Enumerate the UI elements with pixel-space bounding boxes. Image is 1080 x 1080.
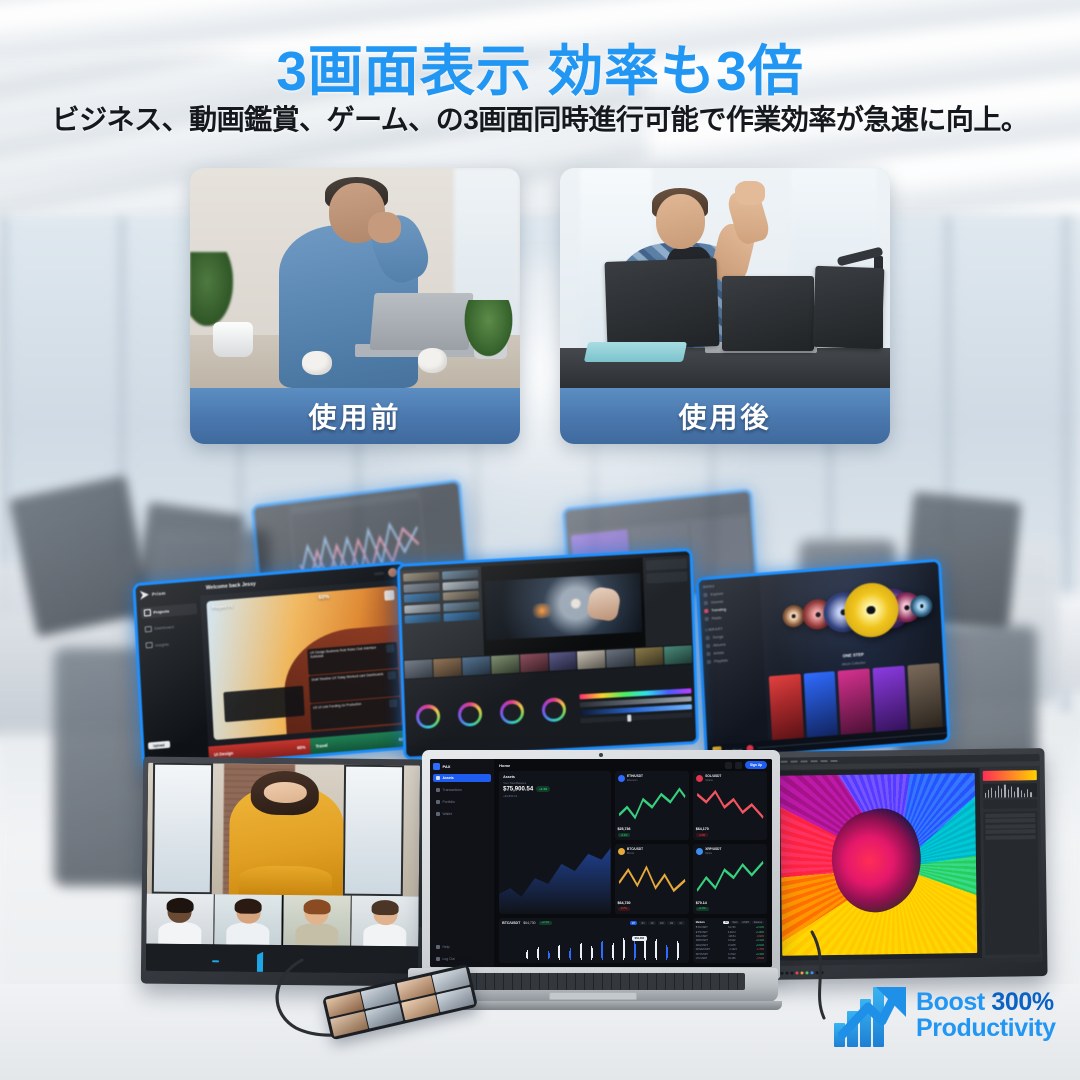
tab-1y[interactable]: 1Y	[677, 921, 685, 926]
signup-button[interactable]: Sign Up	[745, 761, 767, 768]
nav-label: Insights	[155, 641, 169, 647]
trackpad[interactable]	[549, 992, 638, 1000]
coin-icon	[618, 848, 625, 855]
music-nav-label: Songs	[713, 635, 724, 640]
row-pair: ADA/USDT	[696, 944, 708, 947]
row-change: -1.76%	[756, 948, 764, 951]
trading-nav-portfolio[interactable]: Portfolio	[433, 798, 491, 807]
before-card: 使用前	[190, 168, 520, 444]
pax-logo-icon	[433, 763, 440, 770]
nav-label: Wallet	[443, 812, 452, 816]
row-change: -0.92%	[756, 935, 764, 938]
participant-tile[interactable]	[283, 895, 350, 946]
chart-badge: +2.1%	[539, 921, 552, 925]
row-pair: DOGE/USDT	[696, 948, 710, 951]
row-price: 3,418.2	[728, 931, 736, 934]
boost-prefix: Boost	[916, 988, 991, 1016]
music-section-library: LIBRARY	[705, 624, 758, 632]
coin-price: $25,736	[618, 827, 631, 831]
portfolio-icon	[436, 800, 441, 805]
project-hero-card[interactable]: Project #1 60% UX Design Business Rule R…	[207, 586, 406, 741]
nav-label: Projects	[153, 609, 169, 615]
boost-badge: Boost 300% Productivity	[832, 972, 1064, 1058]
task-text: UX UI Link Funding Ux Production	[313, 702, 363, 728]
coin-icon	[696, 775, 703, 782]
trading-sidebar[interactable]: PAX Assets Transactions Portfolio	[430, 759, 494, 967]
project-logo: Prism	[140, 586, 197, 600]
music-nav-label: Albums	[713, 643, 726, 648]
wallet-icon	[436, 812, 441, 817]
floating-screen-music-player[interactable]: MENU Explore Genres Trending Radio LIBRA…	[696, 558, 951, 761]
row-price: 81.450	[728, 957, 735, 960]
row-change: -0.51%	[756, 957, 764, 960]
row-pair: BTC/USDT	[696, 926, 708, 929]
center-screen[interactable]: PAX Assets Transactions Portfolio	[430, 759, 772, 967]
page-title: 3画面表示 効率も3倍	[0, 26, 1080, 106]
layer-item[interactable]	[985, 813, 1035, 818]
floating-screen-project-dashboard[interactable]: Prism Projects Dashboard Insights Welcom…	[132, 561, 415, 771]
logo-label: PAX	[443, 764, 451, 769]
trending-icon	[704, 609, 708, 613]
coin-change: -0.7%	[618, 907, 630, 911]
markets-table[interactable]: Markets All Spot USDT Futures BTC	[693, 918, 767, 963]
poster-root: 3画面表示 効率も3倍 ビジネス、動画鑑賞、ゲーム、の3画面同時進行可能で作業効…	[0, 0, 1080, 1080]
before-photo	[190, 168, 520, 388]
assets-sub: Your Total Balance	[503, 781, 606, 785]
layers-panel[interactable]	[983, 811, 1039, 955]
music-nav-label: Playlists	[714, 658, 728, 663]
nav-label: Portfolio	[443, 800, 455, 804]
project-sidebar[interactable]: Prism Projects Dashboard Insights	[135, 581, 209, 768]
folder-icon	[144, 609, 151, 616]
explore-icon	[703, 593, 707, 597]
mic-icon[interactable]	[211, 954, 220, 961]
nav-label: Help	[443, 945, 450, 949]
table-row[interactable]: LTC/USDT81.450-0.51%	[696, 957, 764, 960]
tab-1h[interactable]: 1H	[630, 921, 638, 926]
task-text: Draft Timeline UX Today Workout card Das…	[311, 672, 384, 700]
coin-price: $70.14	[696, 901, 707, 905]
coin-symbol: ETH/USDT	[627, 774, 643, 778]
project-logo-label: Prism	[152, 591, 166, 597]
left-screen[interactable]	[146, 763, 420, 974]
music-nav-label: Trending	[711, 607, 726, 612]
row-pair: XRP/USDT	[696, 939, 708, 942]
trading-nav-wallet[interactable]: Wallet	[433, 810, 491, 819]
row-price: 0.6142	[728, 939, 735, 942]
color-swatch[interactable]	[982, 770, 1037, 781]
adjustments-panel[interactable]	[983, 799, 1038, 809]
coin-card-btc[interactable]: BTC/USDT Bitcoin $64,730 -0.7%	[615, 844, 689, 913]
photoshop-panels[interactable]	[979, 767, 1042, 958]
color-wheel-offset[interactable]	[542, 697, 567, 722]
page-subtitle: ビジネス、動画鑑賞、ゲーム、の3画面同時進行可能で作業効率が急速に向上。	[0, 98, 1080, 138]
genres-icon	[704, 601, 708, 605]
candlestick-series	[522, 932, 683, 957]
layer-item[interactable]	[985, 818, 1035, 823]
task-thumb-icon	[386, 644, 394, 653]
up-arrow-icon	[838, 981, 908, 1039]
participant-thumbnails[interactable]	[146, 894, 419, 947]
trading-nav-assets[interactable]: Assets	[433, 774, 491, 783]
welcome-message: Welcome back Jessy	[206, 581, 256, 591]
row-price: 6.7210	[728, 953, 735, 956]
coin-change: +1.9%	[696, 907, 709, 911]
hero-action-icon[interactable]	[384, 590, 395, 601]
tab-1w[interactable]: 1W	[658, 921, 666, 926]
table-row[interactable]: DOT/USDT6.7210+0.33%	[696, 953, 764, 956]
assets-change: +2.4%	[536, 786, 550, 792]
tab-all[interactable]: All	[723, 921, 730, 924]
assets-note: +$1,830.12	[503, 794, 606, 798]
nav-label: Transactions	[443, 788, 462, 792]
price-chart[interactable]: BTC/USDT $64,730 +2.1% 1H 4H 1D 1W	[499, 918, 689, 963]
after-photo	[560, 168, 890, 388]
search-icon[interactable]	[725, 762, 732, 769]
row-price: 148.61	[728, 935, 735, 938]
table-row[interactable]: DOGE/USDT0.1321-1.76%	[696, 948, 764, 951]
assets-sparkline	[499, 842, 610, 913]
participant-tile[interactable]	[146, 894, 213, 945]
coin-symbol: BTC/USDT	[627, 847, 643, 851]
album-carousel[interactable]	[763, 566, 938, 658]
avatar[interactable]	[388, 568, 397, 578]
trading-logo: PAX	[433, 763, 491, 770]
music-sidebar[interactable]: MENU Explore Genres Trending Radio LIBRA…	[699, 576, 769, 759]
chart-tooltip: $64,482	[632, 936, 647, 941]
music-nav-label: Genres	[711, 600, 724, 605]
timeframe-tabs[interactable]: 1H 4H 1D 1W 1M 1Y	[630, 921, 685, 926]
boost-line-1: Boost 300%	[916, 989, 1056, 1015]
layer-item[interactable]	[985, 824, 1035, 829]
tab-futures[interactable]: Futures	[752, 921, 764, 924]
after-card: 使用後	[560, 168, 890, 444]
before-after-comparison: 使用前 使用後	[190, 168, 890, 444]
row-change: +0.64%	[756, 944, 764, 947]
coin-card-sol[interactable]: SOL/USDT Solana $64,170 -1.4%	[693, 771, 767, 840]
coin-icon	[618, 775, 625, 782]
color-wheel-gamma[interactable]	[458, 702, 483, 727]
row-pair: ETH/USDT	[696, 931, 708, 934]
after-caption: 使用後	[560, 388, 890, 444]
task-thumb-icon	[387, 671, 395, 680]
tab-1m[interactable]: 1M	[667, 921, 675, 926]
row-pair: DOT/USDT	[696, 953, 708, 956]
trading-nav-help[interactable]: Help	[433, 943, 491, 952]
left-extension-monitor[interactable]	[141, 757, 425, 987]
boost-value: 300%	[991, 988, 1053, 1016]
color-wheel-gain[interactable]	[500, 700, 525, 725]
participant-tile[interactable]	[215, 894, 282, 945]
coin-change: +3.2%	[618, 833, 631, 837]
hero-percent: 60%	[318, 594, 329, 601]
assets-value: $75,900.54	[503, 786, 533, 792]
color-wheel-lift[interactable]	[416, 704, 441, 729]
row-change: +3.41%	[756, 939, 764, 942]
coin-price: $64,170	[696, 827, 709, 831]
tab-1d[interactable]: 1D	[648, 921, 656, 926]
row-price: 0.1321	[730, 948, 737, 951]
coin-name: Ripple	[705, 852, 712, 855]
songs-icon	[706, 636, 710, 640]
coin-card-eth[interactable]: ETH/USDT Ethereum $25,736 +3.2%	[615, 771, 689, 840]
radio-icon	[705, 617, 709, 621]
row-price: 64,730	[728, 926, 735, 929]
coin-name: Solana	[705, 779, 712, 782]
music-nav-label: Explore	[710, 592, 723, 597]
assets-label: Assets	[503, 775, 606, 779]
project-nav-projects[interactable]: Projects	[141, 603, 198, 619]
growth-chart-icon	[832, 977, 910, 1053]
layer-item[interactable]	[985, 829, 1035, 834]
chart-price: $64,730	[523, 921, 535, 925]
coin-name: Ethereum	[627, 779, 637, 782]
color-sliders[interactable]	[576, 664, 696, 748]
before-caption: 使用前	[190, 388, 520, 444]
markets-title: Markets	[696, 921, 705, 924]
trading-nav-transactions[interactable]: Transactions	[433, 786, 491, 795]
playlists-icon	[707, 660, 711, 664]
tab-4h[interactable]: 4H	[639, 921, 647, 926]
task-text: UX Design Business Rule Rules Club Inter…	[310, 645, 385, 673]
coin-card-xrp[interactable]: XRP/USDT Ripple $70.14 +1.9%	[693, 844, 767, 913]
video-call-main-speaker	[147, 763, 420, 897]
row-change: +0.33%	[756, 953, 764, 956]
assets-card[interactable]: Assets Your Total Balance $75,900.54+2.4…	[499, 771, 610, 914]
video-preview[interactable]	[481, 558, 646, 656]
webcam-icon	[599, 753, 603, 757]
bell-icon[interactable]	[735, 762, 742, 769]
coin-price: $64,730	[618, 901, 631, 905]
tab-usdt[interactable]: USDT	[740, 921, 751, 924]
prism-logo-icon	[140, 590, 149, 600]
hero-label: Project #1	[212, 603, 233, 610]
table-row[interactable]: SOL/USDT148.61-0.92%	[696, 935, 764, 938]
coin-symbol: XRP/USDT	[705, 847, 721, 851]
table-row[interactable]: XRP/USDT0.6142+3.41%	[696, 939, 764, 942]
tab-spot[interactable]: Spot	[730, 921, 739, 924]
chart-icon	[146, 642, 153, 649]
coin-icon	[696, 848, 703, 855]
coin-name: Bitcoin	[627, 852, 634, 855]
floating-screen-video-editor[interactable]	[397, 548, 699, 760]
music-nav-label: Radio	[712, 616, 722, 621]
music-nav-label: Artists	[713, 651, 724, 656]
table-row[interactable]: BTC/USDT64,730+2.10%	[696, 926, 764, 929]
transactions-icon	[436, 788, 441, 793]
table-row[interactable]: ADA/USDT0.4478+0.64%	[696, 944, 764, 947]
coin-symbol: SOL/USDT	[705, 774, 721, 778]
chart-pair: BTC/USDT	[502, 921, 520, 925]
music-section-menu: MENU	[703, 581, 756, 589]
help-icon	[436, 945, 441, 950]
inspector-panel[interactable]	[643, 555, 693, 646]
row-change: +2.10%	[756, 926, 764, 929]
row-pair: SOL/USDT	[696, 935, 708, 938]
row-price: 0.4478	[728, 944, 735, 947]
coin-change: -1.4%	[696, 833, 708, 837]
nav-label: Assets	[443, 776, 454, 780]
project-nav-insights[interactable]: Insights	[142, 636, 199, 652]
layer-item[interactable]	[985, 835, 1035, 840]
grid-icon	[145, 626, 152, 633]
albums-icon	[706, 644, 710, 648]
task-thumb-icon	[389, 699, 397, 708]
table-row[interactable]: ETH/USDT3,418.2+1.08%	[696, 931, 764, 934]
media-bin[interactable]	[400, 566, 484, 659]
artists-icon	[706, 652, 710, 656]
histogram-panel	[982, 783, 1037, 798]
artwork-canvas[interactable]	[780, 773, 977, 956]
project-nav-dashboard[interactable]: Dashboard	[142, 619, 199, 635]
row-pair: LTC/USDT	[696, 957, 708, 960]
nav-label: Dashboard	[154, 625, 174, 632]
status-pill[interactable]	[374, 572, 384, 576]
assets-icon	[436, 776, 441, 781]
boost-line-2: Productivity	[916, 1015, 1056, 1041]
page-heading: Home	[499, 763, 510, 768]
row-change: +1.08%	[756, 931, 764, 934]
